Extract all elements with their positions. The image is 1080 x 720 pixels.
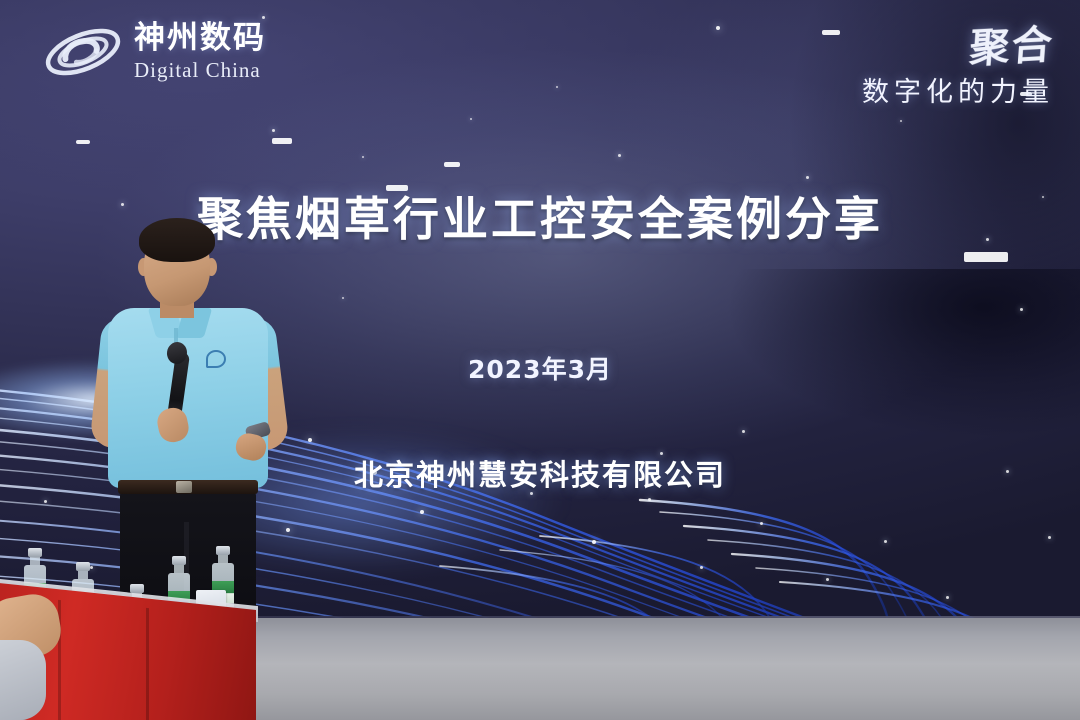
slogan-headline: 聚合 [968,12,1057,74]
speaker-hair [139,218,215,262]
speaker-presenter [96,222,286,622]
bottle-neck [218,555,228,563]
bottle-cap [172,556,186,565]
digital-china-logo: 神州数码 Digital China [42,18,266,86]
bottle-cap [76,562,90,571]
speaker-belt-buckle [176,481,192,493]
event-slogan: 聚合 数字化的力量 [862,14,1054,109]
attendee-shoulder [0,640,46,720]
slogan-subline: 数字化的力量 [862,70,1054,109]
galaxy-swirl-icon [42,18,124,86]
bottle-neck [78,571,88,579]
bottle-cap [130,584,144,593]
bottle-cap [28,548,42,557]
logo-name-cn: 神州数码 [134,23,266,54]
bottle-neck [174,565,184,573]
bottle-neck [30,557,40,565]
conference-stage-photo: 神州数码 Digital China 聚合 数字化的力量 聚焦烟草行业工控安全案… [0,0,1080,720]
speaker-chest-logo-icon [206,350,226,368]
bottle-cap [216,546,230,555]
logo-name-en: Digital China [134,60,266,81]
table-skirt-fold [146,608,149,720]
